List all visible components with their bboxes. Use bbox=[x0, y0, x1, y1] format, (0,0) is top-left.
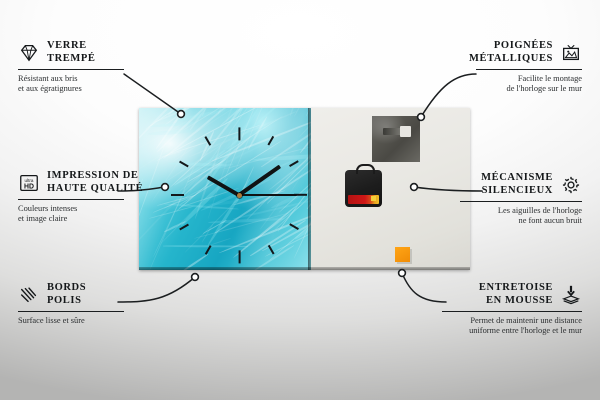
callout-subtitle: Permet de maintenir une distanceuniforme… bbox=[442, 316, 582, 336]
callout-verre-trempe: VERRETREMPÉ Résistant aux briset aux égr… bbox=[18, 40, 124, 94]
infographic-canvas: VERRETREMPÉ Résistant aux briset aux égr… bbox=[0, 0, 600, 400]
back-panel-bottom-edge bbox=[311, 267, 470, 270]
panel-bottom-edge bbox=[139, 267, 311, 270]
callout-header: ultraHD IMPRESSION DEHAUTE QUALITÉ bbox=[18, 170, 124, 195]
clock-tick bbox=[238, 127, 240, 140]
svg-text:ultra: ultra bbox=[25, 178, 34, 183]
callout-divider bbox=[442, 311, 582, 312]
callout-subtitle: Résistant aux briset aux égratignures bbox=[18, 74, 124, 94]
callout-header: BORDSPOLIS bbox=[18, 282, 124, 307]
hanger-slot bbox=[383, 128, 402, 135]
polished-edges-icon bbox=[18, 284, 40, 306]
gear-icon bbox=[560, 174, 582, 196]
callout-subtitle: Couleurs intenseset image claire bbox=[18, 204, 124, 224]
connector-dot-bords-polis bbox=[192, 274, 199, 281]
clock-tick bbox=[171, 194, 184, 196]
mechanism-hanger-loop bbox=[356, 164, 375, 174]
product-image bbox=[139, 108, 470, 272]
callout-entretoise-en-mousse: ENTRETOISEEN MOUSSE Permet de maintenir … bbox=[442, 282, 582, 336]
callout-subtitle: Facilite le montagede l'horloge sur le m… bbox=[476, 74, 582, 94]
callout-title: POIGNÉESMÉTALLIQUES bbox=[469, 40, 553, 65]
callout-title: BORDSPOLIS bbox=[47, 282, 86, 307]
callout-divider bbox=[18, 69, 124, 70]
clock-tick bbox=[238, 250, 240, 263]
callout-divider bbox=[476, 69, 582, 70]
diamond-icon bbox=[18, 42, 40, 64]
metal-hanger-plate bbox=[372, 116, 420, 162]
ultra-hd-icon: ultraHD bbox=[18, 172, 40, 194]
foam-spacer bbox=[395, 247, 410, 262]
callout-title: MÉCANISMESILENCIEUX bbox=[481, 172, 553, 197]
svg-text:HD: HD bbox=[24, 183, 34, 190]
clock-center-hub bbox=[237, 193, 242, 198]
callout-poignees-metalliques: POIGNÉESMÉTALLIQUES Facilite le montaged… bbox=[476, 40, 582, 94]
wire-entretoise bbox=[402, 273, 446, 302]
callout-subtitle: Les aiguilles de l'horlogene font aucun … bbox=[460, 206, 582, 226]
callout-header: MÉCANISMESILENCIEUX bbox=[460, 172, 582, 197]
clock-front-glass-panel bbox=[139, 108, 311, 270]
callout-title: IMPRESSION DEHAUTE QUALITÉ bbox=[47, 170, 143, 195]
callout-mecanisme-silencieux: MÉCANISMESILENCIEUX Les aiguilles de l'h… bbox=[460, 172, 582, 226]
callout-title: VERRETREMPÉ bbox=[47, 40, 96, 65]
callout-bords-polis: BORDSPOLIS Surface lisse et sûre bbox=[18, 282, 124, 326]
quartz-mechanism-box bbox=[345, 170, 382, 207]
callout-divider bbox=[18, 311, 124, 312]
callout-impression-haute-qualite: ultraHD IMPRESSION DEHAUTE QUALITÉ Coule… bbox=[18, 170, 124, 224]
aa-battery bbox=[348, 195, 379, 204]
callout-divider bbox=[18, 199, 124, 200]
callout-title: ENTRETOISEEN MOUSSE bbox=[479, 282, 553, 307]
callout-subtitle: Surface lisse et sûre bbox=[18, 316, 124, 326]
callout-header: VERRETREMPÉ bbox=[18, 40, 124, 65]
callout-header: POIGNÉESMÉTALLIQUES bbox=[476, 40, 582, 65]
clock-back-panel bbox=[311, 108, 470, 270]
wall-mount-frame-icon bbox=[560, 42, 582, 64]
wire-bords-polis bbox=[118, 277, 195, 302]
foam-spacer-icon bbox=[560, 284, 582, 306]
callout-divider bbox=[460, 201, 582, 202]
callout-header: ENTRETOISEEN MOUSSE bbox=[442, 282, 582, 307]
